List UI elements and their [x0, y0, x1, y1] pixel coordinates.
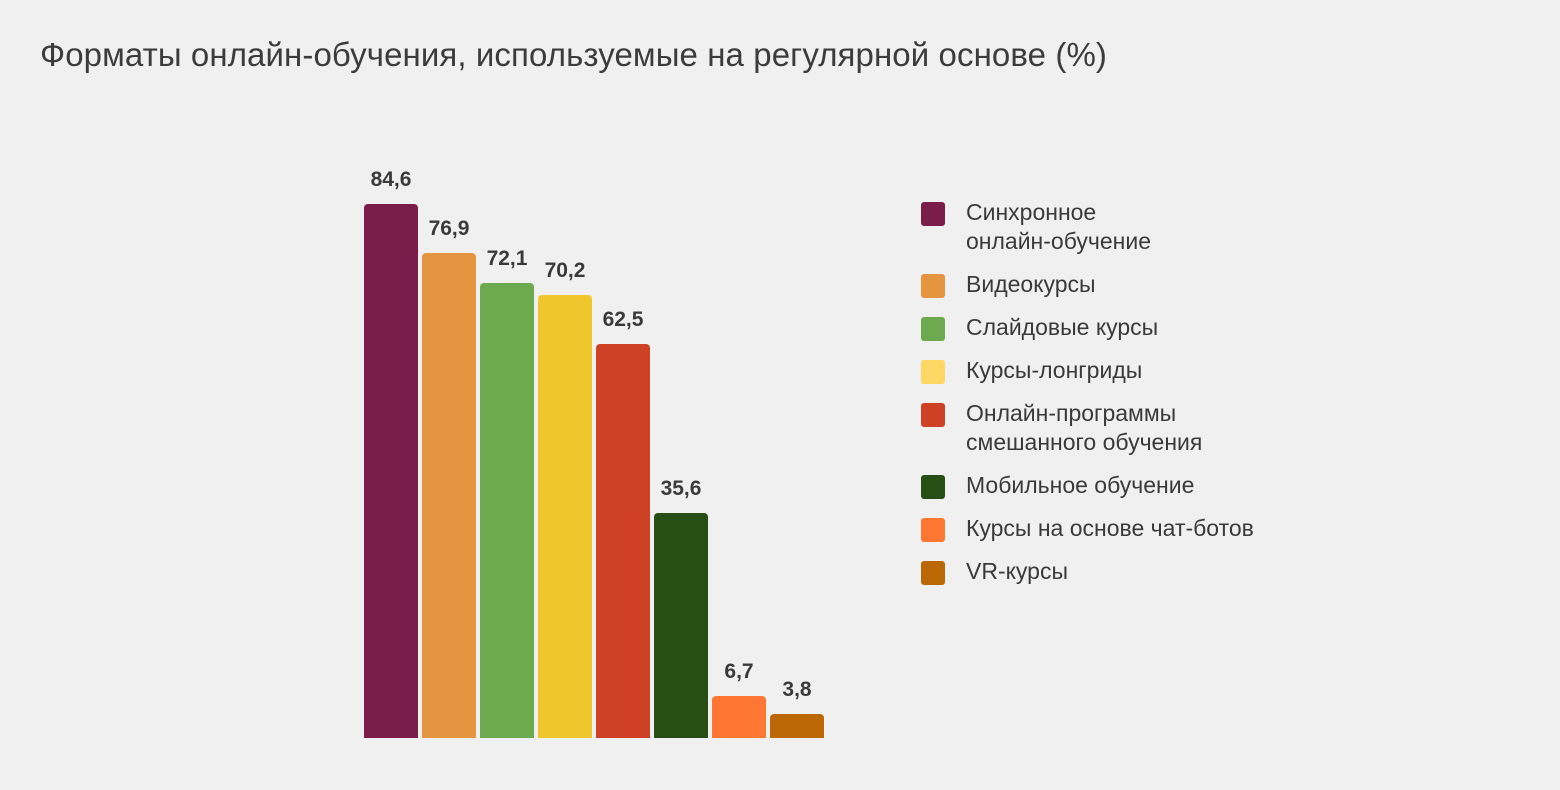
- bar-slot: 72,1: [480, 120, 534, 738]
- legend-color-swatch-icon: [921, 403, 945, 427]
- legend-item[interactable]: Синхронное онлайн-обучение: [921, 198, 1481, 256]
- legend-item[interactable]: Онлайн-программы смешанного обучения: [921, 399, 1481, 457]
- legend-item-label: Слайдовые курсы: [966, 313, 1158, 342]
- bar-slot: 76,9: [422, 120, 476, 738]
- legend-item-label: Синхронное онлайн-обучение: [966, 198, 1151, 256]
- bar[interactable]: [654, 513, 708, 738]
- bar[interactable]: [596, 344, 650, 739]
- bar[interactable]: [422, 253, 476, 738]
- legend-item-label: Курсы-лонгриды: [966, 356, 1142, 385]
- legend-item[interactable]: Курсы-лонгриды: [921, 356, 1481, 385]
- bar-value-label: 76,9: [429, 218, 470, 239]
- legend-item[interactable]: VR-курсы: [921, 557, 1481, 586]
- bar-series: 84,676,972,170,262,535,66,73,8: [364, 120, 824, 738]
- bar[interactable]: [770, 714, 824, 738]
- bar-value-label: 3,8: [782, 679, 811, 700]
- bar-slot: 3,8: [770, 120, 824, 738]
- legend-color-swatch-icon: [921, 561, 945, 585]
- legend-color-swatch-icon: [921, 475, 945, 499]
- legend-color-swatch-icon: [921, 518, 945, 542]
- plot-area: 84,676,972,170,262,535,66,73,8: [364, 120, 834, 738]
- legend-color-swatch-icon: [921, 317, 945, 341]
- legend-item-label: VR-курсы: [966, 557, 1068, 586]
- legend-item[interactable]: Курсы на основе чат-ботов: [921, 514, 1481, 543]
- legend-item-label: Мобильное обучение: [966, 471, 1194, 500]
- bar[interactable]: [712, 696, 766, 738]
- bar[interactable]: [364, 204, 418, 738]
- legend-item[interactable]: Видеокурсы: [921, 270, 1481, 299]
- legend-item-label: Курсы на основе чат-ботов: [966, 514, 1254, 543]
- bar-value-label: 6,7: [724, 661, 753, 682]
- legend-item-label: Видеокурсы: [966, 270, 1096, 299]
- bar-value-label: 72,1: [487, 248, 528, 269]
- legend-item-label: Онлайн-программы смешанного обучения: [966, 399, 1202, 457]
- chart-title: Форматы онлайн-обучения, используемые на…: [40, 36, 1107, 74]
- bar-slot: 62,5: [596, 120, 650, 738]
- legend-color-swatch-icon: [921, 274, 945, 298]
- bar-slot: 6,7: [712, 120, 766, 738]
- bar-value-label: 62,5: [603, 309, 644, 330]
- legend-item[interactable]: Слайдовые курсы: [921, 313, 1481, 342]
- bar-slot: 35,6: [654, 120, 708, 738]
- bar-value-label: 70,2: [545, 260, 586, 281]
- legend-color-swatch-icon: [921, 360, 945, 384]
- bar-value-label: 84,6: [371, 169, 412, 190]
- bar-value-label: 35,6: [661, 478, 702, 499]
- chart-legend: Синхронное онлайн-обучениеВидеокурсыСлай…: [921, 198, 1481, 600]
- bar-slot: 70,2: [538, 120, 592, 738]
- legend-item[interactable]: Мобильное обучение: [921, 471, 1481, 500]
- legend-color-swatch-icon: [921, 202, 945, 226]
- bar[interactable]: [538, 295, 592, 738]
- bar[interactable]: [480, 283, 534, 738]
- bar-slot: 84,6: [364, 120, 418, 738]
